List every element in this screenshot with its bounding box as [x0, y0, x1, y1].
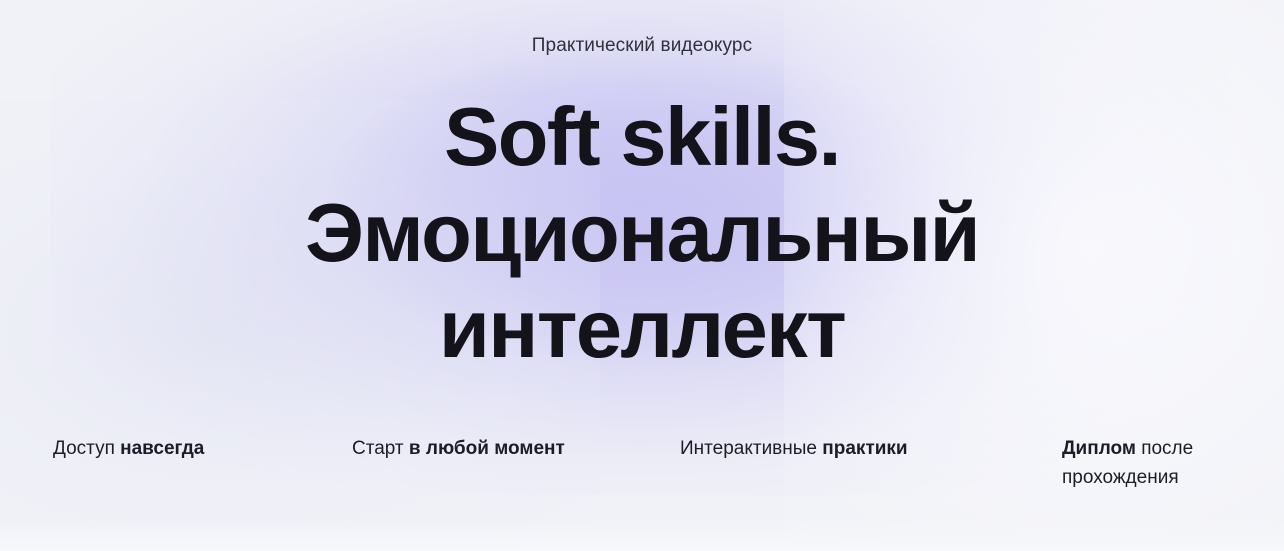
- course-eyebrow-label: Практический видеокурс: [0, 33, 1284, 58]
- page-title: Soft skills. Эмоциональный интеллект: [0, 89, 1284, 377]
- feature-list: Доступ навсегда Старт в любой момент Инт…: [0, 434, 1284, 498]
- feature-text-light: Интерактивные: [680, 438, 822, 459]
- feature-text-bold: практики: [822, 438, 907, 459]
- headline-line-3: интеллект: [0, 281, 1284, 377]
- headline-line-2: Эмоциональный: [0, 185, 1284, 281]
- feature-text-light: Старт: [352, 438, 409, 459]
- feature-text-bold: навсегда: [120, 438, 204, 459]
- feature-text-bold: Диплом: [1062, 438, 1136, 459]
- feature-item-practice: Интерактивные практики: [680, 434, 1030, 463]
- hero-section: Практический видеокурс Soft skills. Эмоц…: [0, 0, 1284, 551]
- feature-text-light: Доступ: [53, 438, 120, 459]
- feature-item-access: Доступ навсегда: [53, 434, 343, 463]
- feature-item-diploma: Диплом после прохождения: [1062, 434, 1282, 492]
- feature-item-start: Старт в любой момент: [352, 434, 662, 463]
- headline-line-1: Soft skills.: [0, 89, 1284, 185]
- background-bottom-wash: [0, 517, 1284, 551]
- feature-text-bold: в любой момент: [409, 438, 565, 459]
